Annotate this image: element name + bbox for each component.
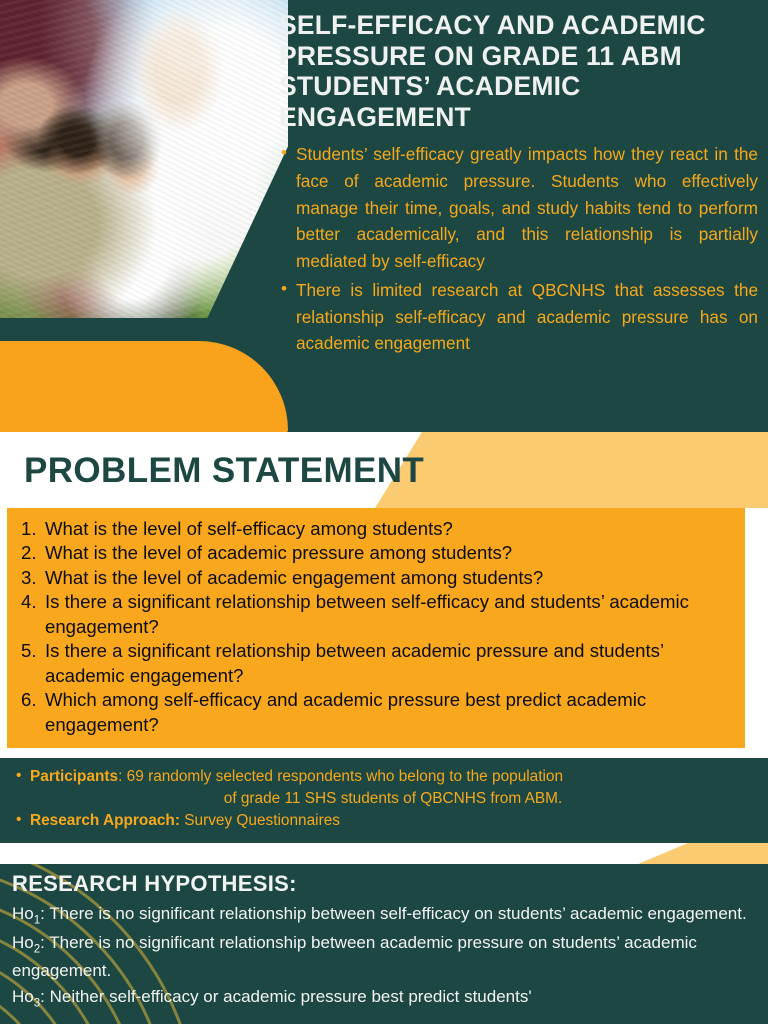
presentation-slide: SELF-EFFICACY AND ACADEMIC PRESSURE ON G… bbox=[0, 0, 768, 1024]
header-bullet-item: There is limited research at QBCNHS that… bbox=[279, 277, 758, 357]
question-number: 4. bbox=[21, 590, 37, 614]
list-item: 4. Is there a significant relationship b… bbox=[21, 590, 736, 639]
list-item: 5. Is there a significant relationship b… bbox=[21, 639, 736, 688]
question-text: What is the level of academic pressure a… bbox=[45, 542, 512, 563]
question-text: What is the level of academic engagement… bbox=[45, 567, 543, 588]
list-item: Participants: 69 randomly selected respo… bbox=[16, 766, 756, 810]
hypothesis-list: Ho1: There is no significant relationshi… bbox=[12, 901, 764, 1012]
research-hypothesis-section: RESEARCH HYPOTHESIS: Ho1: There is no si… bbox=[0, 864, 768, 1024]
problem-statement-box: 1. What is the level of self-efficacy am… bbox=[7, 508, 745, 748]
header-bullet-item: Students’ self-efficacy greatly impacts … bbox=[279, 141, 758, 275]
white-gap-with-wedge bbox=[0, 843, 768, 864]
participants-section: Participants: 69 randomly selected respo… bbox=[0, 758, 768, 843]
list-item: 6. Which among self-efficacy and academi… bbox=[21, 688, 736, 737]
list-item: Ho1: There is no significant relationshi… bbox=[12, 901, 764, 930]
participants-label: Participants bbox=[30, 768, 118, 785]
question-number: 2. bbox=[21, 541, 37, 565]
list-item: Ho2: There is no significant relationshi… bbox=[12, 930, 764, 984]
question-number: 5. bbox=[21, 639, 37, 663]
hypothesis-title: RESEARCH HYPOTHESIS: bbox=[12, 871, 297, 897]
question-text: What is the level of self-efficacy among… bbox=[45, 518, 453, 539]
question-number: 3. bbox=[21, 566, 37, 590]
research-approach-label: Research Approach: bbox=[30, 812, 180, 829]
hypothesis-text: : There is no significant relationship b… bbox=[40, 904, 747, 923]
participants-list: Participants: 69 randomly selected respo… bbox=[16, 766, 756, 832]
header-photo bbox=[0, 0, 288, 318]
hypothesis-prefix: Ho bbox=[12, 987, 34, 1006]
list-item: Research Approach: Survey Questionnaires bbox=[16, 810, 756, 832]
hypothesis-prefix: Ho bbox=[12, 904, 34, 923]
question-number: 6. bbox=[21, 688, 37, 712]
question-text: Is there a significant relationship betw… bbox=[45, 640, 663, 685]
list-item: 1. What is the level of self-efficacy am… bbox=[21, 517, 736, 541]
hypothesis-text: : Neither self-efficacy or academic pres… bbox=[40, 987, 531, 1006]
page-title: SELF-EFFICACY AND ACADEMIC PRESSURE ON G… bbox=[279, 10, 749, 132]
research-questions-list: 1. What is the level of self-efficacy am… bbox=[21, 517, 736, 737]
list-item: Ho3: Neither self-efficacy or academic p… bbox=[12, 984, 764, 1013]
header-bullet-list: Students’ self-efficacy greatly impacts … bbox=[279, 141, 758, 359]
question-text: Is there a significant relationship betw… bbox=[45, 591, 689, 636]
orange-decorative-blob bbox=[0, 341, 288, 432]
problem-statement-title: PROBLEM STATEMENT bbox=[24, 451, 424, 491]
problem-statement-section: PROBLEM STATEMENT 1. What is the level o… bbox=[0, 432, 768, 756]
question-text: Which among self-efficacy and academic p… bbox=[45, 689, 646, 734]
list-item: 2. What is the level of academic pressur… bbox=[21, 541, 736, 565]
question-number: 1. bbox=[21, 517, 37, 541]
list-item: 3. What is the level of academic engagem… bbox=[21, 566, 736, 590]
participants-text-line2: of grade 11 SHS students of QBCNHS from … bbox=[30, 788, 756, 810]
photo-texture-overlay bbox=[0, 0, 288, 318]
hypothesis-text: : There is no significant relationship b… bbox=[12, 933, 697, 981]
participants-text: 69 randomly selected respondents who bel… bbox=[127, 768, 563, 785]
research-approach-text: Survey Questionnaires bbox=[184, 812, 340, 829]
header-section: SELF-EFFICACY AND ACADEMIC PRESSURE ON G… bbox=[0, 0, 768, 432]
hypothesis-prefix: Ho bbox=[12, 933, 34, 952]
participants-separator: : bbox=[118, 768, 127, 785]
